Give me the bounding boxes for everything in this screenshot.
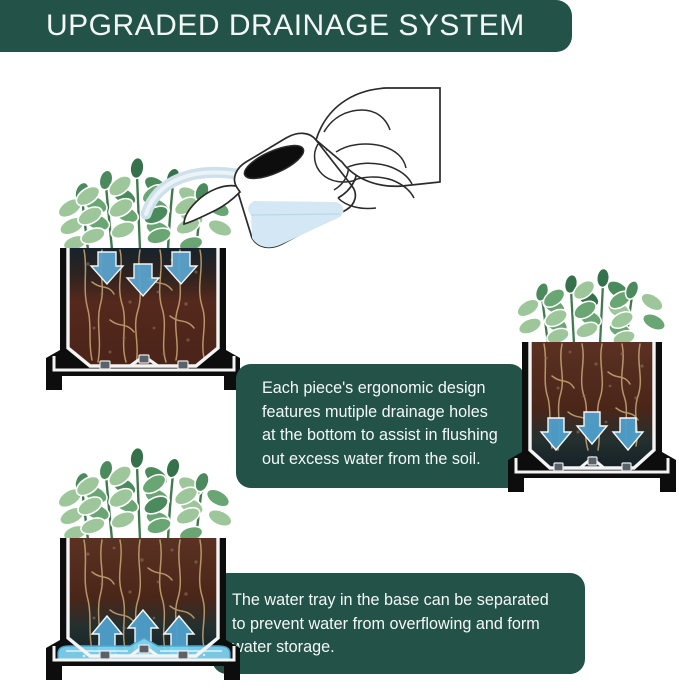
callout-water-tray: The water tray in the base can be separa… xyxy=(212,573,585,674)
planter-bottomleft xyxy=(44,442,244,690)
soil-right xyxy=(530,342,654,470)
page-title: UPGRADED DRAINAGE SYSTEM xyxy=(46,11,525,41)
water-arrow-down xyxy=(541,412,643,450)
leaves xyxy=(55,447,234,544)
page-title-banner: UPGRADED DRAINAGE SYSTEM xyxy=(0,0,572,52)
foliage-right xyxy=(514,268,668,348)
callout-2-text: The water tray in the base can be separa… xyxy=(232,589,585,660)
callout-1-text: Each piece's ergonomic design features m… xyxy=(262,377,525,471)
watering-can-illustration xyxy=(140,82,440,267)
foliage-bottomleft xyxy=(55,447,234,544)
planter-right xyxy=(504,272,679,500)
leaves xyxy=(514,268,668,348)
callout-drainage-holes: Each piece's ergonomic design features m… xyxy=(236,364,525,488)
